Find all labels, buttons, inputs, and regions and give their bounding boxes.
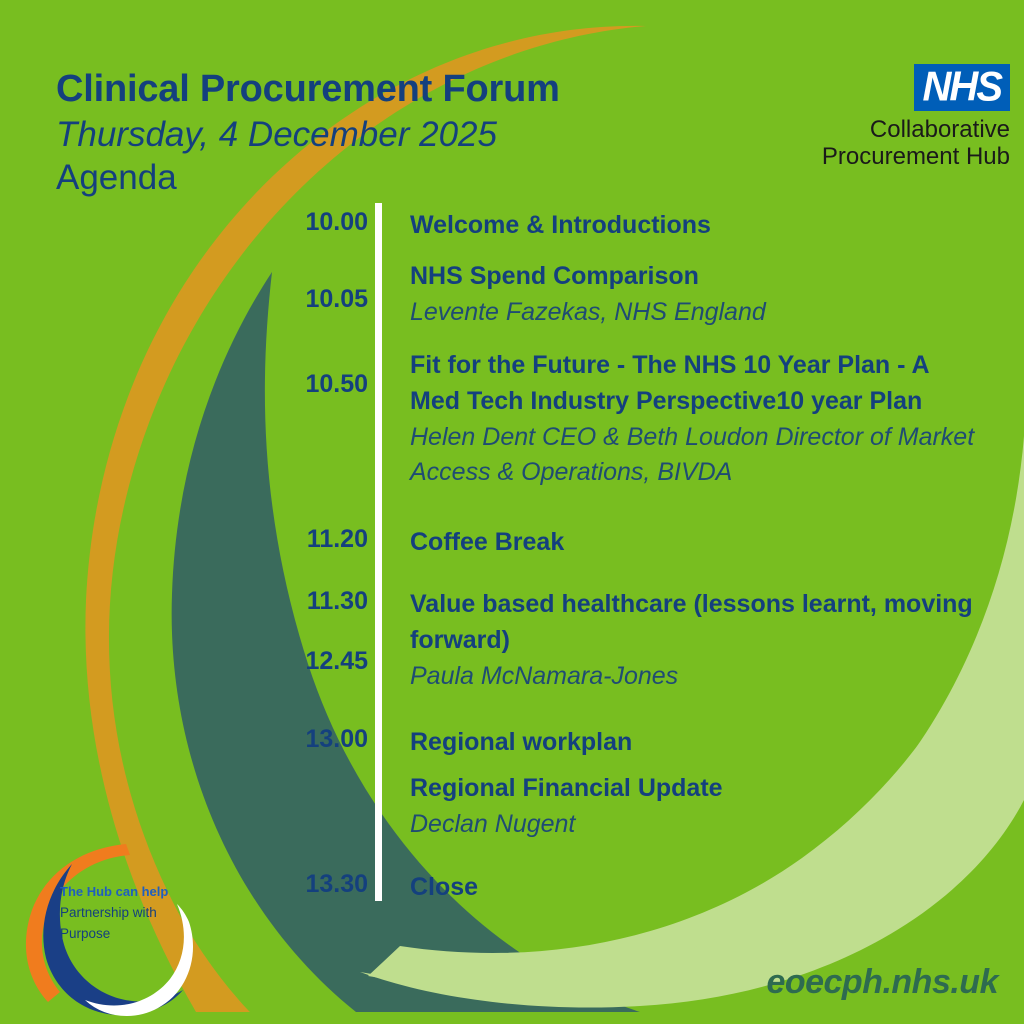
agenda-time: 10.05 <box>180 285 368 314</box>
event-date: Thursday, 4 December 2025 <box>56 113 560 157</box>
nhs-logo-subtitle-line1: Collaborative <box>822 117 1010 144</box>
agenda-vertical-divider <box>375 203 382 901</box>
agenda-item-speaker: Paula McNamara-Jones <box>410 659 980 695</box>
agenda-item-title: Welcome & Introductions <box>410 208 980 244</box>
agenda-time: 13.00 <box>180 725 368 754</box>
nhs-logo: NHS Collaborative Procurement Hub <box>822 64 1010 171</box>
agenda-poster: Clinical Procurement Forum Thursday, 4 D… <box>0 0 1024 1024</box>
poster-header: Clinical Procurement Forum Thursday, 4 D… <box>56 68 560 199</box>
agenda-item-title: NHS Spend Comparison <box>410 259 980 295</box>
nhs-logo-subtitle-line2: Procurement Hub <box>822 144 1010 171</box>
agenda-item-title: Regional Financial Update <box>410 771 980 807</box>
agenda-item-speaker: Helen Dent CEO & Beth Loudon Director of… <box>410 420 980 492</box>
hub-logo-strapline-line1: Partnership with <box>60 902 200 924</box>
agenda-item-title: Coffee Break <box>410 525 980 561</box>
agenda-detail: Close <box>410 870 980 906</box>
agenda-detail: Value based healthcare (lessons learnt, … <box>410 587 980 694</box>
light-green-arc-shape <box>360 436 1024 1008</box>
agenda-detail: NHS Spend Comparison Levente Fazekas, NH… <box>410 259 980 331</box>
nhs-logo-mark: NHS <box>914 64 1010 111</box>
agenda-item-title: Fit for the Future - The NHS 10 Year Pla… <box>410 348 980 420</box>
agenda-time: 11.20 <box>180 525 368 554</box>
hub-logo-strapline-line2: Purpose <box>60 923 200 945</box>
agenda-detail: Coffee Break <box>410 525 980 561</box>
page-title: Clinical Procurement Forum <box>56 68 560 111</box>
agenda-detail: Regional Financial Update Declan Nugent <box>410 771 980 843</box>
hub-logo-text: The Hub can help Partnership with Purpos… <box>60 882 200 945</box>
hub-logo-tagline: The Hub can help <box>60 882 200 902</box>
agenda-item-speaker: Levente Fazekas, NHS England <box>410 295 980 331</box>
agenda-item-title: Value based healthcare (lessons learnt, … <box>410 587 980 659</box>
nhs-logo-subtitle: Collaborative Procurement Hub <box>822 117 1010 171</box>
agenda-item-title: Close <box>410 870 980 906</box>
agenda-time: 12.45 <box>180 647 368 676</box>
agenda-time: 11.30 <box>180 587 368 616</box>
agenda-time: 10.50 <box>180 370 368 399</box>
agenda-item-speaker: Declan Nugent <box>410 807 980 843</box>
agenda-item-title: Regional workplan <box>410 725 980 761</box>
website-url[interactable]: eoecph.nhs.uk <box>766 963 998 1002</box>
agenda-time: 10.00 <box>180 208 368 237</box>
nhs-logo-text: NHS <box>923 66 1001 108</box>
agenda-detail: Welcome & Introductions <box>410 208 980 244</box>
agenda-detail: Regional workplan <box>410 725 980 761</box>
agenda-detail: Fit for the Future - The NHS 10 Year Pla… <box>410 348 980 491</box>
page-subtitle: Agenda <box>56 157 560 199</box>
hub-logo: The Hub can help Partnership with Purpos… <box>22 842 212 1022</box>
